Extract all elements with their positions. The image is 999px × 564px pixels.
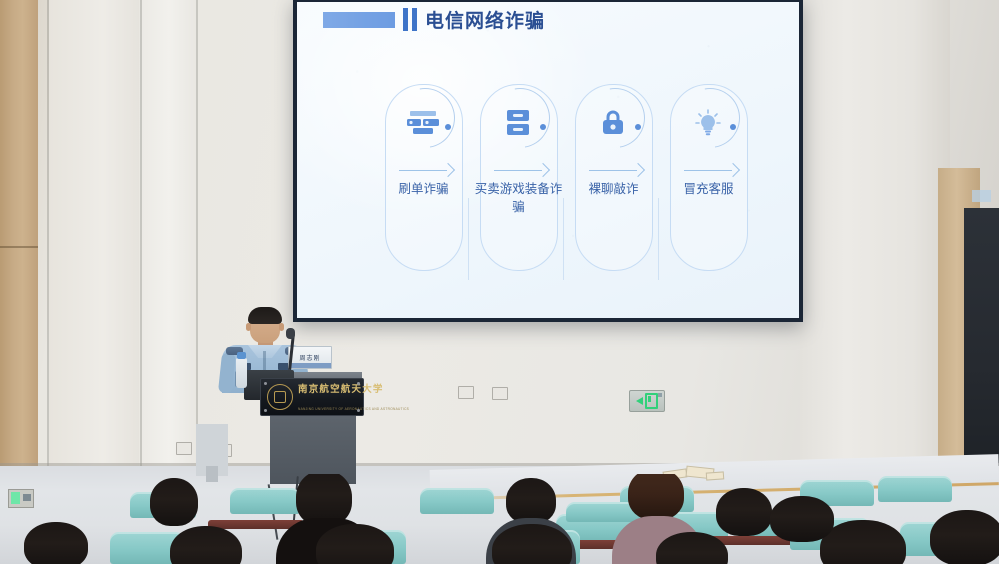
speaker-ear xyxy=(246,323,251,331)
audience-seating xyxy=(0,474,999,564)
step-arrow-icon xyxy=(399,164,457,176)
auditorium-seat[interactable] xyxy=(878,476,952,502)
title-band-decoration xyxy=(323,12,395,28)
indicator-led-icon xyxy=(658,393,662,397)
lecture-hall-photo: 电信网络诈骗 xyxy=(0,0,999,564)
step-label: 裸聊敲诈 xyxy=(567,180,660,198)
audience-head xyxy=(628,474,684,520)
slide-header: 电信网络诈骗 xyxy=(323,6,545,33)
university-name-cn: 南京航空航天大学 xyxy=(298,385,384,395)
lectern: 南京航空航天大学 NANJING UNIVERSITY OF AERONAUTI… xyxy=(246,366,372,484)
nameplate-text: 周志刚 xyxy=(299,353,320,362)
step-arrow-icon xyxy=(494,164,552,176)
university-seal-icon xyxy=(267,384,293,410)
wall-panel-right xyxy=(800,0,950,466)
step-divider xyxy=(468,198,469,280)
audience-head xyxy=(150,478,198,526)
flow-step: 买卖游戏装备诈骗 xyxy=(472,80,565,280)
step-arc-dot xyxy=(540,124,546,130)
slide-title: 电信网络诈骗 xyxy=(425,6,545,33)
speaker-ear xyxy=(279,323,284,331)
audience-head xyxy=(930,510,999,564)
wall-seam xyxy=(196,0,198,470)
slide-canvas: 电信网络诈骗 xyxy=(297,2,799,318)
step-label: 冒充客服 xyxy=(662,180,755,198)
step-label: 刷单诈骗 xyxy=(377,180,470,198)
flow-step: 裸聊敲诈 xyxy=(567,80,660,280)
projection-screen: 电信网络诈骗 xyxy=(293,0,803,322)
wood-wall-panel-left xyxy=(0,0,38,492)
credit-card-icon xyxy=(403,106,443,140)
server-stack-icon xyxy=(498,106,538,140)
wall-seam xyxy=(47,0,49,470)
side-door[interactable] xyxy=(964,208,999,470)
lightbulb-icon xyxy=(688,106,728,140)
wall-outlet[interactable] xyxy=(492,387,508,400)
wall-outlet[interactable] xyxy=(176,442,192,455)
wall-panel xyxy=(142,0,196,470)
lock-icon xyxy=(593,106,633,140)
door-placard xyxy=(972,190,991,202)
emergency-exit-sign xyxy=(629,390,665,412)
lectern-plaque: 南京航空航天大学 NANJING UNIVERSITY OF AERONAUTI… xyxy=(260,378,364,416)
running-person-icon xyxy=(645,393,658,409)
university-name-en: NANJING UNIVERSITY OF AERONAUTICS AND AS… xyxy=(298,407,409,411)
wall-seam xyxy=(140,0,142,470)
wall-outlet[interactable] xyxy=(458,386,474,399)
step-arc-dot xyxy=(445,124,451,130)
auditorium-seat[interactable] xyxy=(230,488,300,514)
step-label: 买卖游戏装备诈骗 xyxy=(472,180,565,216)
water-bottle xyxy=(236,358,247,388)
auditorium-seat[interactable] xyxy=(420,488,494,514)
flow-step: 冒充客服 xyxy=(662,80,755,280)
audience-head xyxy=(170,526,242,564)
left-arrow-icon xyxy=(636,397,643,405)
speaker-hair xyxy=(248,307,282,324)
water-bottle-cap xyxy=(237,352,246,359)
fraud-types-flow: 刷单诈骗 买卖游 xyxy=(377,80,755,280)
step-arc-dot xyxy=(635,124,641,130)
flow-step: 刷单诈骗 xyxy=(377,80,470,280)
step-arrow-icon xyxy=(684,164,742,176)
audience-head xyxy=(716,488,772,536)
audience-head xyxy=(24,522,88,564)
wall-panel xyxy=(49,0,139,470)
step-arrow-icon xyxy=(589,164,647,176)
audience-head xyxy=(770,496,834,542)
microphone-icon xyxy=(286,328,295,339)
step-divider xyxy=(658,198,659,280)
step-arc-dot xyxy=(730,124,736,130)
title-bars-icon xyxy=(403,8,417,31)
step-divider xyxy=(563,198,564,280)
